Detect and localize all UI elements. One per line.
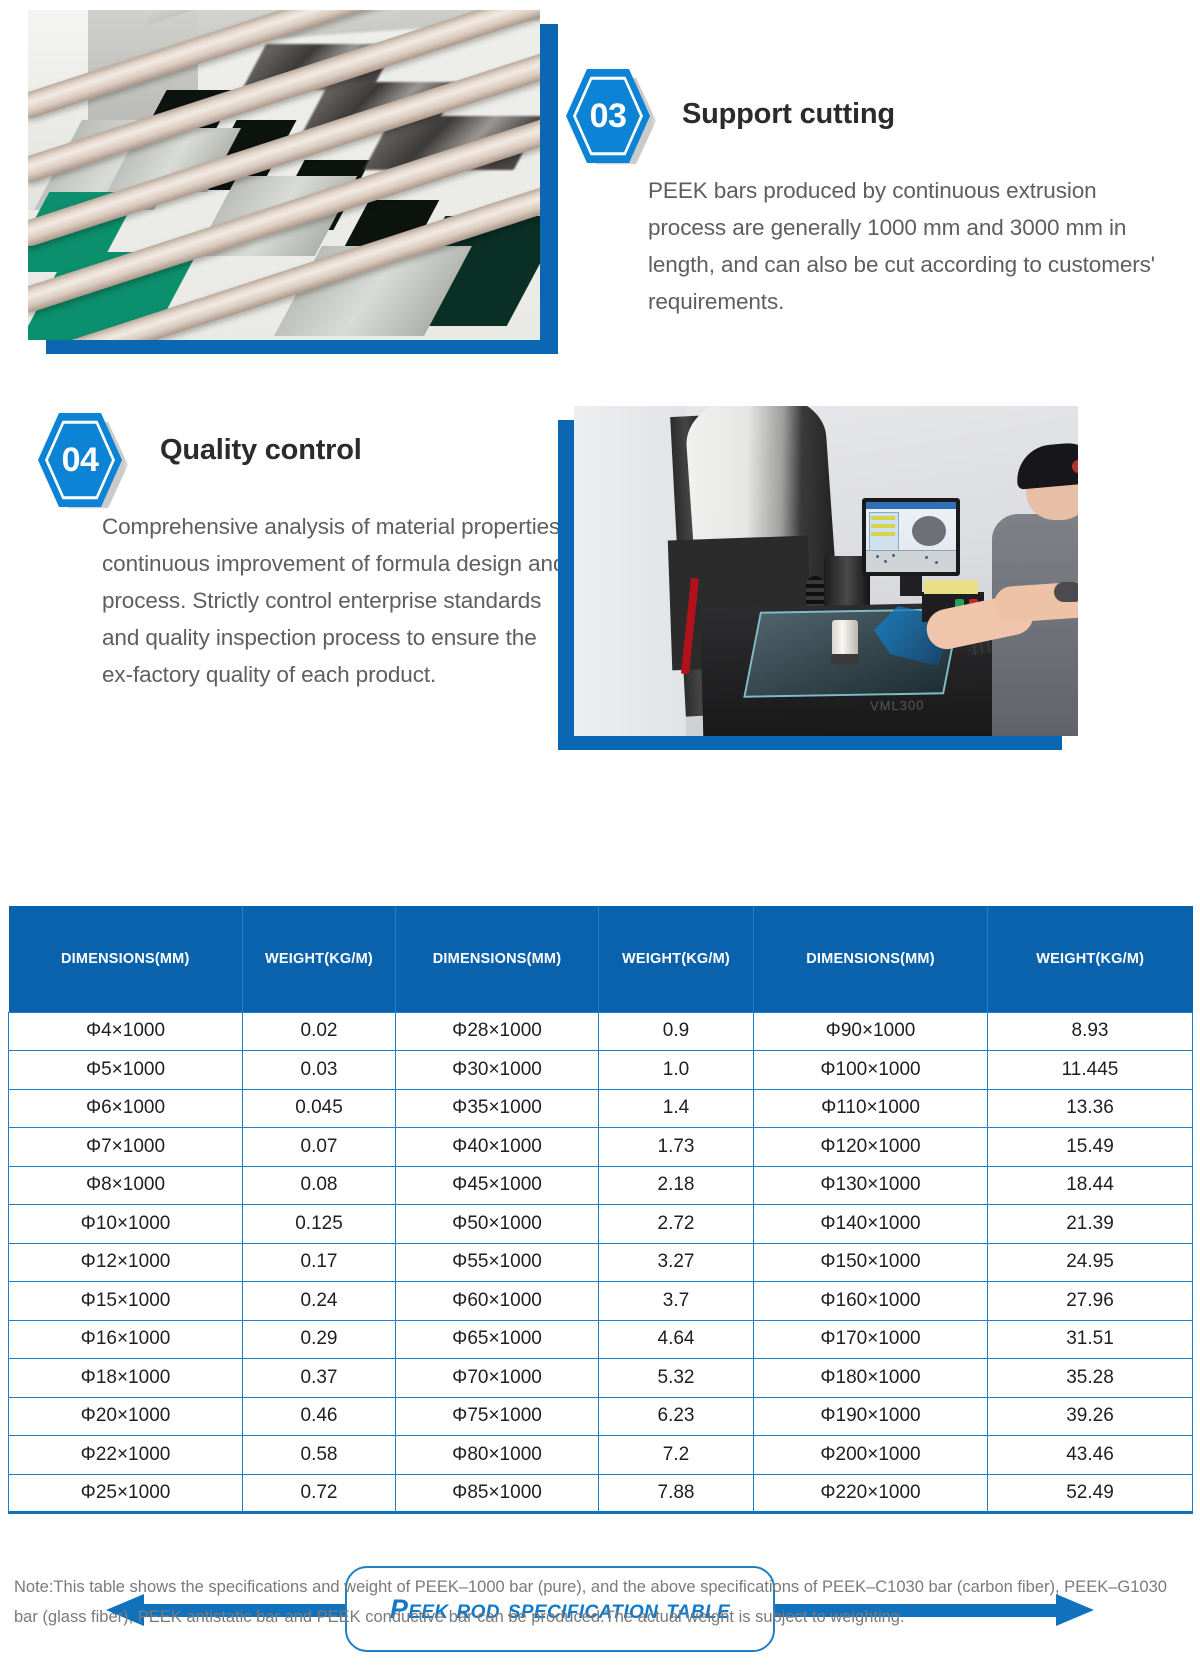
- cell-dimension: Φ85×1000: [396, 1474, 599, 1513]
- photo-frame: [28, 10, 540, 340]
- cell-weight: 2.72: [599, 1205, 754, 1244]
- section-title-quality-control: Quality control: [160, 434, 362, 467]
- cell-dimension: Φ75×1000: [396, 1397, 599, 1436]
- cell-dimension: Φ35×1000: [396, 1089, 599, 1128]
- table-row: Φ15×10000.24Φ60×10003.7Φ160×100027.96: [9, 1282, 1193, 1321]
- cell-dimension: Φ180×1000: [754, 1359, 988, 1398]
- cell-dimension: Φ90×1000: [754, 1012, 988, 1051]
- cell-weight: 0.07: [243, 1128, 396, 1167]
- spec-table-banner: Peek rod specification table: [0, 790, 1200, 890]
- cell-dimension: Φ100×1000: [754, 1051, 988, 1090]
- photo-peek-rods: [28, 10, 540, 340]
- cell-weight: 27.96: [988, 1282, 1193, 1321]
- cell-weight: 0.17: [243, 1243, 396, 1282]
- cap-logo: [1072, 460, 1078, 473]
- cell-dimension: Φ4×1000: [9, 1012, 243, 1051]
- cell-weight: 21.39: [988, 1205, 1193, 1244]
- spec-table-container: DIMENSIONS(MM) WEIGHT(KG/M) DIMENSIONS(M…: [8, 906, 1192, 1514]
- step-number-03: 03: [566, 68, 650, 164]
- cell-weight: 0.045: [243, 1089, 396, 1128]
- cell-weight: 0.125: [243, 1205, 396, 1244]
- table-note: Note:This table shows the specifications…: [14, 1572, 1190, 1632]
- cell-dimension: Φ160×1000: [754, 1282, 988, 1321]
- table-row: Φ16×10000.29Φ65×10004.64Φ170×100031.51: [9, 1320, 1193, 1359]
- cell-dimension: Φ15×1000: [9, 1282, 243, 1321]
- cell-dimension: Φ22×1000: [9, 1436, 243, 1475]
- cell-weight: 31.51: [988, 1320, 1193, 1359]
- col-header-weight-1: WEIGHT(KG/M): [243, 906, 396, 1012]
- cell-dimension: Φ200×1000: [754, 1436, 988, 1475]
- cell-weight: 2.18: [599, 1166, 754, 1205]
- cell-weight: 0.24: [243, 1282, 396, 1321]
- cell-weight: 5.32: [599, 1359, 754, 1398]
- table-header-row: DIMENSIONS(MM) WEIGHT(KG/M) DIMENSIONS(M…: [9, 906, 1193, 1012]
- cell-weight: 0.37: [243, 1359, 396, 1398]
- cell-dimension: Φ70×1000: [396, 1359, 599, 1398]
- cell-dimension: Φ65×1000: [396, 1320, 599, 1359]
- table-row: Φ6×10000.045Φ35×10001.4Φ110×100013.36: [9, 1089, 1193, 1128]
- cell-weight: 0.72: [243, 1474, 396, 1513]
- cell-weight: 1.0: [599, 1051, 754, 1090]
- cell-dimension: Φ220×1000: [754, 1474, 988, 1513]
- col-header-weight-3: WEIGHT(KG/M): [988, 906, 1193, 1012]
- cell-weight: 35.28: [988, 1359, 1193, 1398]
- cell-dimension: Φ10×1000: [9, 1205, 243, 1244]
- cell-weight: 0.08: [243, 1166, 396, 1205]
- cell-dimension: Φ40×1000: [396, 1128, 599, 1167]
- cell-dimension: Φ130×1000: [754, 1166, 988, 1205]
- col-header-dimensions-1: DIMENSIONS(MM): [9, 906, 243, 1012]
- operator-cap: [1014, 440, 1078, 489]
- cell-weight: 0.02: [243, 1012, 396, 1051]
- table-row: Φ4×10000.02Φ28×10000.9Φ90×10008.93: [9, 1012, 1193, 1051]
- cell-dimension: Φ20×1000: [9, 1397, 243, 1436]
- cell-dimension: Φ150×1000: [754, 1243, 988, 1282]
- product-spec-page: 03 Support cutting PEEK bars produced by…: [0, 0, 1200, 1668]
- cell-weight: 18.44: [988, 1166, 1193, 1205]
- sample-specimen: [832, 620, 858, 660]
- table-row: Φ22×10000.58Φ80×10007.2Φ200×100043.46: [9, 1436, 1193, 1475]
- rods-scene-art: [28, 10, 540, 340]
- cell-weight: 7.2: [599, 1436, 754, 1475]
- cell-weight: 7.88: [599, 1474, 754, 1513]
- cell-weight: 11.445: [988, 1051, 1193, 1090]
- table-row: Φ5×10000.03Φ30×10001.0Φ100×100011.445: [9, 1051, 1193, 1090]
- cell-dimension: Φ140×1000: [754, 1205, 988, 1244]
- table-row: Φ12×10000.17Φ55×10003.27Φ150×100024.95: [9, 1243, 1193, 1282]
- section-title-support-cutting: Support cutting: [682, 98, 895, 131]
- cell-dimension: Φ12×1000: [9, 1243, 243, 1282]
- cell-dimension: Φ28×1000: [396, 1012, 599, 1051]
- cell-weight: 0.03: [243, 1051, 396, 1090]
- table-row: Φ10×10000.125Φ50×10002.72Φ140×100021.39: [9, 1205, 1193, 1244]
- cell-dimension: Φ55×1000: [396, 1243, 599, 1282]
- computer-mouse: [1054, 582, 1078, 602]
- cell-dimension: Φ8×1000: [9, 1166, 243, 1205]
- cell-dimension: Φ16×1000: [9, 1320, 243, 1359]
- cell-weight: 1.4: [599, 1089, 754, 1128]
- cell-dimension: Φ170×1000: [754, 1320, 988, 1359]
- photo-frame: VML300: [574, 406, 1078, 736]
- cell-dimension: Φ50×1000: [396, 1205, 599, 1244]
- col-header-weight-2: WEIGHT(KG/M): [599, 906, 754, 1012]
- cell-weight: 3.27: [599, 1243, 754, 1282]
- col-header-dimensions-3: DIMENSIONS(MM): [754, 906, 988, 1012]
- cell-weight: 43.46: [988, 1436, 1193, 1475]
- cell-dimension: Φ5×1000: [9, 1051, 243, 1090]
- table-row: Φ8×10000.08Φ45×10002.18Φ130×100018.44: [9, 1166, 1193, 1205]
- photo-quality-inspection: VML300: [574, 406, 1078, 736]
- cell-weight: 52.49: [988, 1474, 1193, 1513]
- cell-weight: 24.95: [988, 1243, 1193, 1282]
- cell-weight: 13.36: [988, 1089, 1193, 1128]
- cell-weight: 0.9: [599, 1012, 754, 1051]
- table-row: Φ7×10000.07Φ40×10001.73Φ120×100015.49: [9, 1128, 1193, 1167]
- cell-weight: 0.58: [243, 1436, 396, 1475]
- cell-dimension: Φ6×1000: [9, 1089, 243, 1128]
- cell-weight: 3.7: [599, 1282, 754, 1321]
- cell-weight: 8.93: [988, 1012, 1193, 1051]
- monitor-stand: [900, 576, 922, 596]
- cell-dimension: Φ110×1000: [754, 1089, 988, 1128]
- cell-weight: 1.73: [599, 1128, 754, 1167]
- monitor-screen: [866, 502, 956, 572]
- step-number-04: 04: [38, 412, 122, 508]
- section-body-support-cutting: PEEK bars produced by continuous extrusi…: [648, 172, 1178, 320]
- cell-dimension: Φ120×1000: [754, 1128, 988, 1167]
- cell-dimension: Φ45×1000: [396, 1166, 599, 1205]
- cell-dimension: Φ80×1000: [396, 1436, 599, 1475]
- cell-weight: 0.46: [243, 1397, 396, 1436]
- step-badge-03: 03: [566, 68, 650, 164]
- section-body-quality-control: Comprehensive analysis of material prope…: [102, 508, 572, 693]
- table-body: Φ4×10000.02Φ28×10000.9Φ90×10008.93Φ5×100…: [9, 1012, 1193, 1513]
- cell-dimension: Φ18×1000: [9, 1359, 243, 1398]
- cell-weight: 0.29: [243, 1320, 396, 1359]
- measuring-machine-art: VML300: [574, 406, 1078, 736]
- cell-dimension: Φ30×1000: [396, 1051, 599, 1090]
- table-row: Φ18×10000.37Φ70×10005.32Φ180×100035.28: [9, 1359, 1193, 1398]
- cell-dimension: Φ60×1000: [396, 1282, 599, 1321]
- col-header-dimensions-2: DIMENSIONS(MM): [396, 906, 599, 1012]
- cell-weight: 39.26: [988, 1397, 1193, 1436]
- step-badge-04: 04: [38, 412, 122, 508]
- table-row: Φ25×10000.72Φ85×10007.88Φ220×100052.49: [9, 1474, 1193, 1513]
- cell-weight: 15.49: [988, 1128, 1193, 1167]
- peek-rod-spec-table: DIMENSIONS(MM) WEIGHT(KG/M) DIMENSIONS(M…: [8, 906, 1193, 1514]
- table-row: Φ20×10000.46Φ75×10006.23Φ190×100039.26: [9, 1397, 1193, 1436]
- cell-dimension: Φ25×1000: [9, 1474, 243, 1513]
- cell-weight: 6.23: [599, 1397, 754, 1436]
- machine-model-label: VML300: [870, 698, 925, 714]
- cell-dimension: Φ190×1000: [754, 1397, 988, 1436]
- cell-weight: 4.64: [599, 1320, 754, 1359]
- cell-dimension: Φ7×1000: [9, 1128, 243, 1167]
- section-support-cutting: 03 Support cutting PEEK bars produced by…: [0, 0, 1200, 380]
